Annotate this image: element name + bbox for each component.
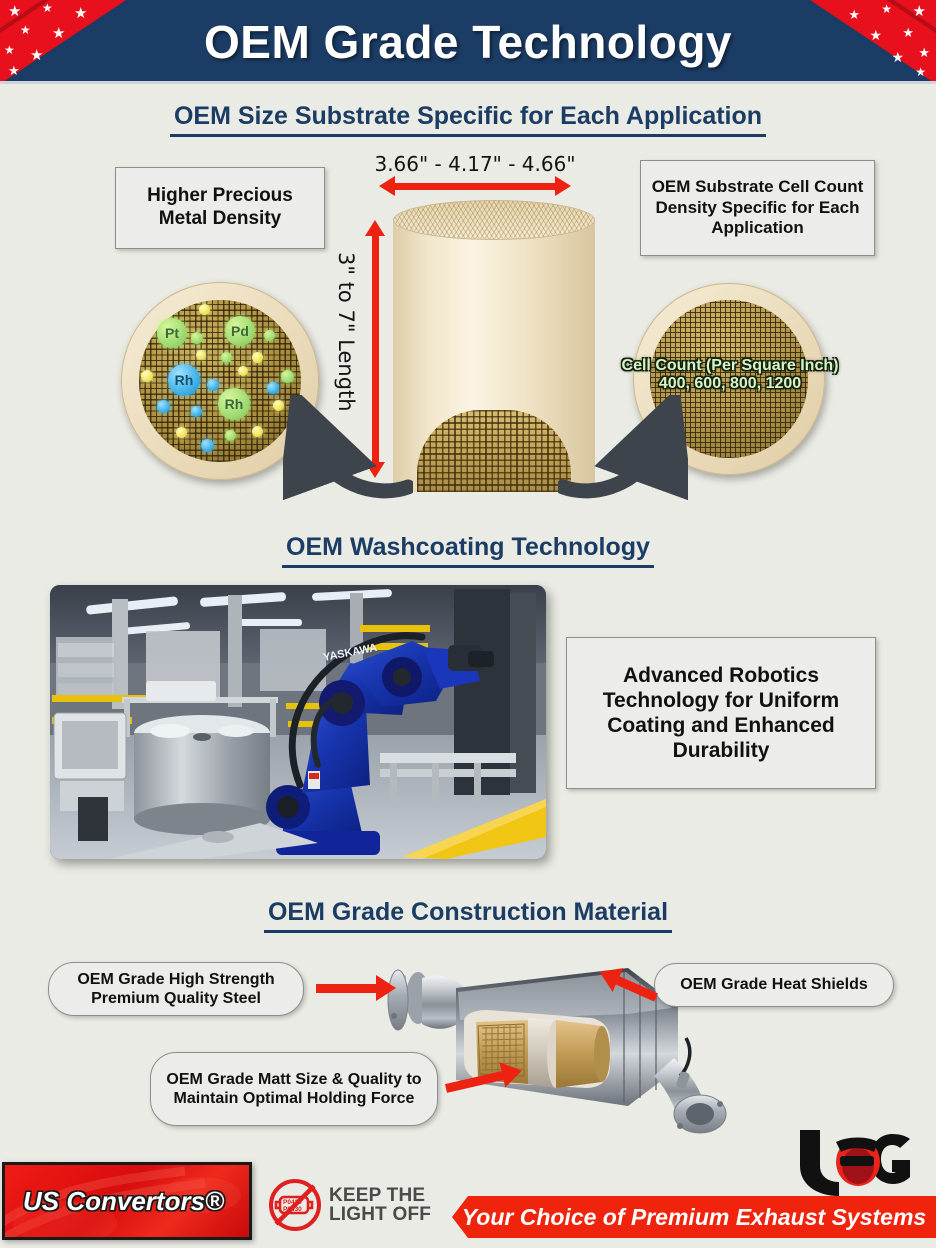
keep-the-light-off-badge: P0420 P0430 KEEP THE LIGHT OFF: [268, 1178, 431, 1232]
metal-particle: [191, 406, 202, 417]
washcoating-robot-photo: YASKAWA: [50, 585, 546, 859]
metal-particle: [264, 330, 275, 341]
usc-logo-icon: [796, 1126, 918, 1196]
metal-particle: [157, 400, 170, 413]
usc-brand-mark: [796, 1126, 918, 1201]
section-heading-substrate-text: OEM Size Substrate Specific for Each App…: [170, 102, 766, 137]
metal-bubble-pt: Pt: [157, 318, 187, 348]
callout-advanced-robotics-text: Advanced Robotics Technology for Uniform…: [579, 663, 863, 764]
metal-particle: [199, 304, 210, 315]
section-heading-washcoating-text: OEM Washcoating Technology: [282, 533, 654, 568]
keep-the-light-off-text: KEEP THE LIGHT OFF: [329, 1186, 431, 1225]
metal-particle: [196, 350, 206, 360]
cylinder-cutaway: [417, 410, 571, 492]
cell-count-title: Cell Count (Per Square Inch): [595, 357, 865, 375]
metal-particle: [176, 427, 187, 438]
keep-light-line-1: KEEP THE: [329, 1186, 431, 1205]
callout-matt-size: OEM Grade Matt Size & Quality to Maintai…: [150, 1052, 438, 1126]
metal-particle: [225, 430, 236, 441]
cylinder-top-face: [393, 200, 595, 240]
metal-bubble-rh-blue-label: Rh: [175, 372, 194, 388]
section-heading-substrate: OEM Size Substrate Specific for Each App…: [0, 102, 936, 137]
metal-particle: [221, 352, 232, 363]
metal-bubble-rh-blue: Rh: [168, 364, 200, 396]
metal-bubble-pd: Pd: [225, 316, 255, 346]
metal-particle: [281, 370, 294, 383]
metal-bubble-pd-label: Pd: [231, 323, 249, 339]
metal-particle: [238, 366, 248, 376]
header-divider: [0, 81, 936, 84]
robot-photo-illustration: YASKAWA: [50, 585, 546, 859]
metal-particle: [141, 370, 153, 382]
arrow-to-steel: [316, 984, 376, 993]
section-heading-construction-text: OEM Grade Construction Material: [264, 898, 672, 933]
substrate-diameter-label: 3.66" - 4.17" - 4.66": [355, 152, 595, 176]
substrate-length-label: 3" to 7" Length: [334, 252, 358, 412]
callout-advanced-robotics: Advanced Robotics Technology for Uniform…: [566, 637, 876, 789]
curved-arrow-right: [558, 395, 688, 505]
callout-matt-size-text: OEM Grade Matt Size & Quality to Maintai…: [161, 1070, 427, 1108]
metal-particle: [207, 379, 219, 391]
callout-precious-metal-density: Higher Precious Metal Density: [115, 167, 325, 249]
callout-cell-count-density: OEM Substrate Cell Count Density Specifi…: [640, 160, 875, 256]
metal-bubble-rh-green: Rh: [218, 388, 250, 420]
callout-heat-shields-text: OEM Grade Heat Shields: [680, 975, 868, 994]
metal-bubble-pt-label: Pt: [165, 325, 179, 341]
metal-particle: [191, 332, 203, 344]
no-check-engine-light-icon: P0420 P0430: [268, 1178, 322, 1232]
metal-particle: [252, 352, 263, 363]
us-convertors-logo-text: US Convertors®: [5, 1186, 224, 1217]
keep-light-line-2: LIGHT OFF: [329, 1205, 431, 1224]
page-title: OEM Grade Technology: [0, 0, 936, 84]
section-heading-construction: OEM Grade Construction Material: [0, 898, 936, 933]
cell-count-label: Cell Count (Per Square Inch) 400, 600, 8…: [595, 357, 865, 394]
metal-particle: [252, 426, 263, 437]
page-header: ★ ★ ★ ★ ★ ★ ★ ★ ★ ★ ★ ★ ★ ★ ★ ★ OEM Grad…: [0, 0, 936, 84]
metal-particle: [201, 439, 214, 452]
tagline-banner: Your Choice of Premium Exhaust Systems: [452, 1196, 936, 1238]
callout-premium-steel: OEM Grade High Strength Premium Quality …: [48, 962, 304, 1016]
metal-bubble-rh-green-label: Rh: [225, 396, 244, 412]
us-convertors-logo: US Convertors®: [2, 1162, 252, 1240]
callout-cell-count-density-text: OEM Substrate Cell Count Density Specifi…: [649, 177, 866, 238]
callout-heat-shields: OEM Grade Heat Shields: [654, 963, 894, 1007]
curved-arrow-left: [283, 395, 413, 505]
callout-premium-steel-text: OEM Grade High Strength Premium Quality …: [59, 970, 293, 1008]
metal-particle: [267, 382, 279, 394]
tagline-text: Your Choice of Premium Exhaust Systems: [462, 1204, 926, 1231]
diameter-arrow: [395, 183, 555, 190]
cell-count-values: 400, 600, 800, 1200: [595, 375, 865, 393]
callout-precious-metal-density-text: Higher Precious Metal Density: [124, 185, 316, 231]
honeycomb-cells: [417, 410, 571, 492]
section-heading-washcoating: OEM Washcoating Technology: [0, 533, 936, 568]
